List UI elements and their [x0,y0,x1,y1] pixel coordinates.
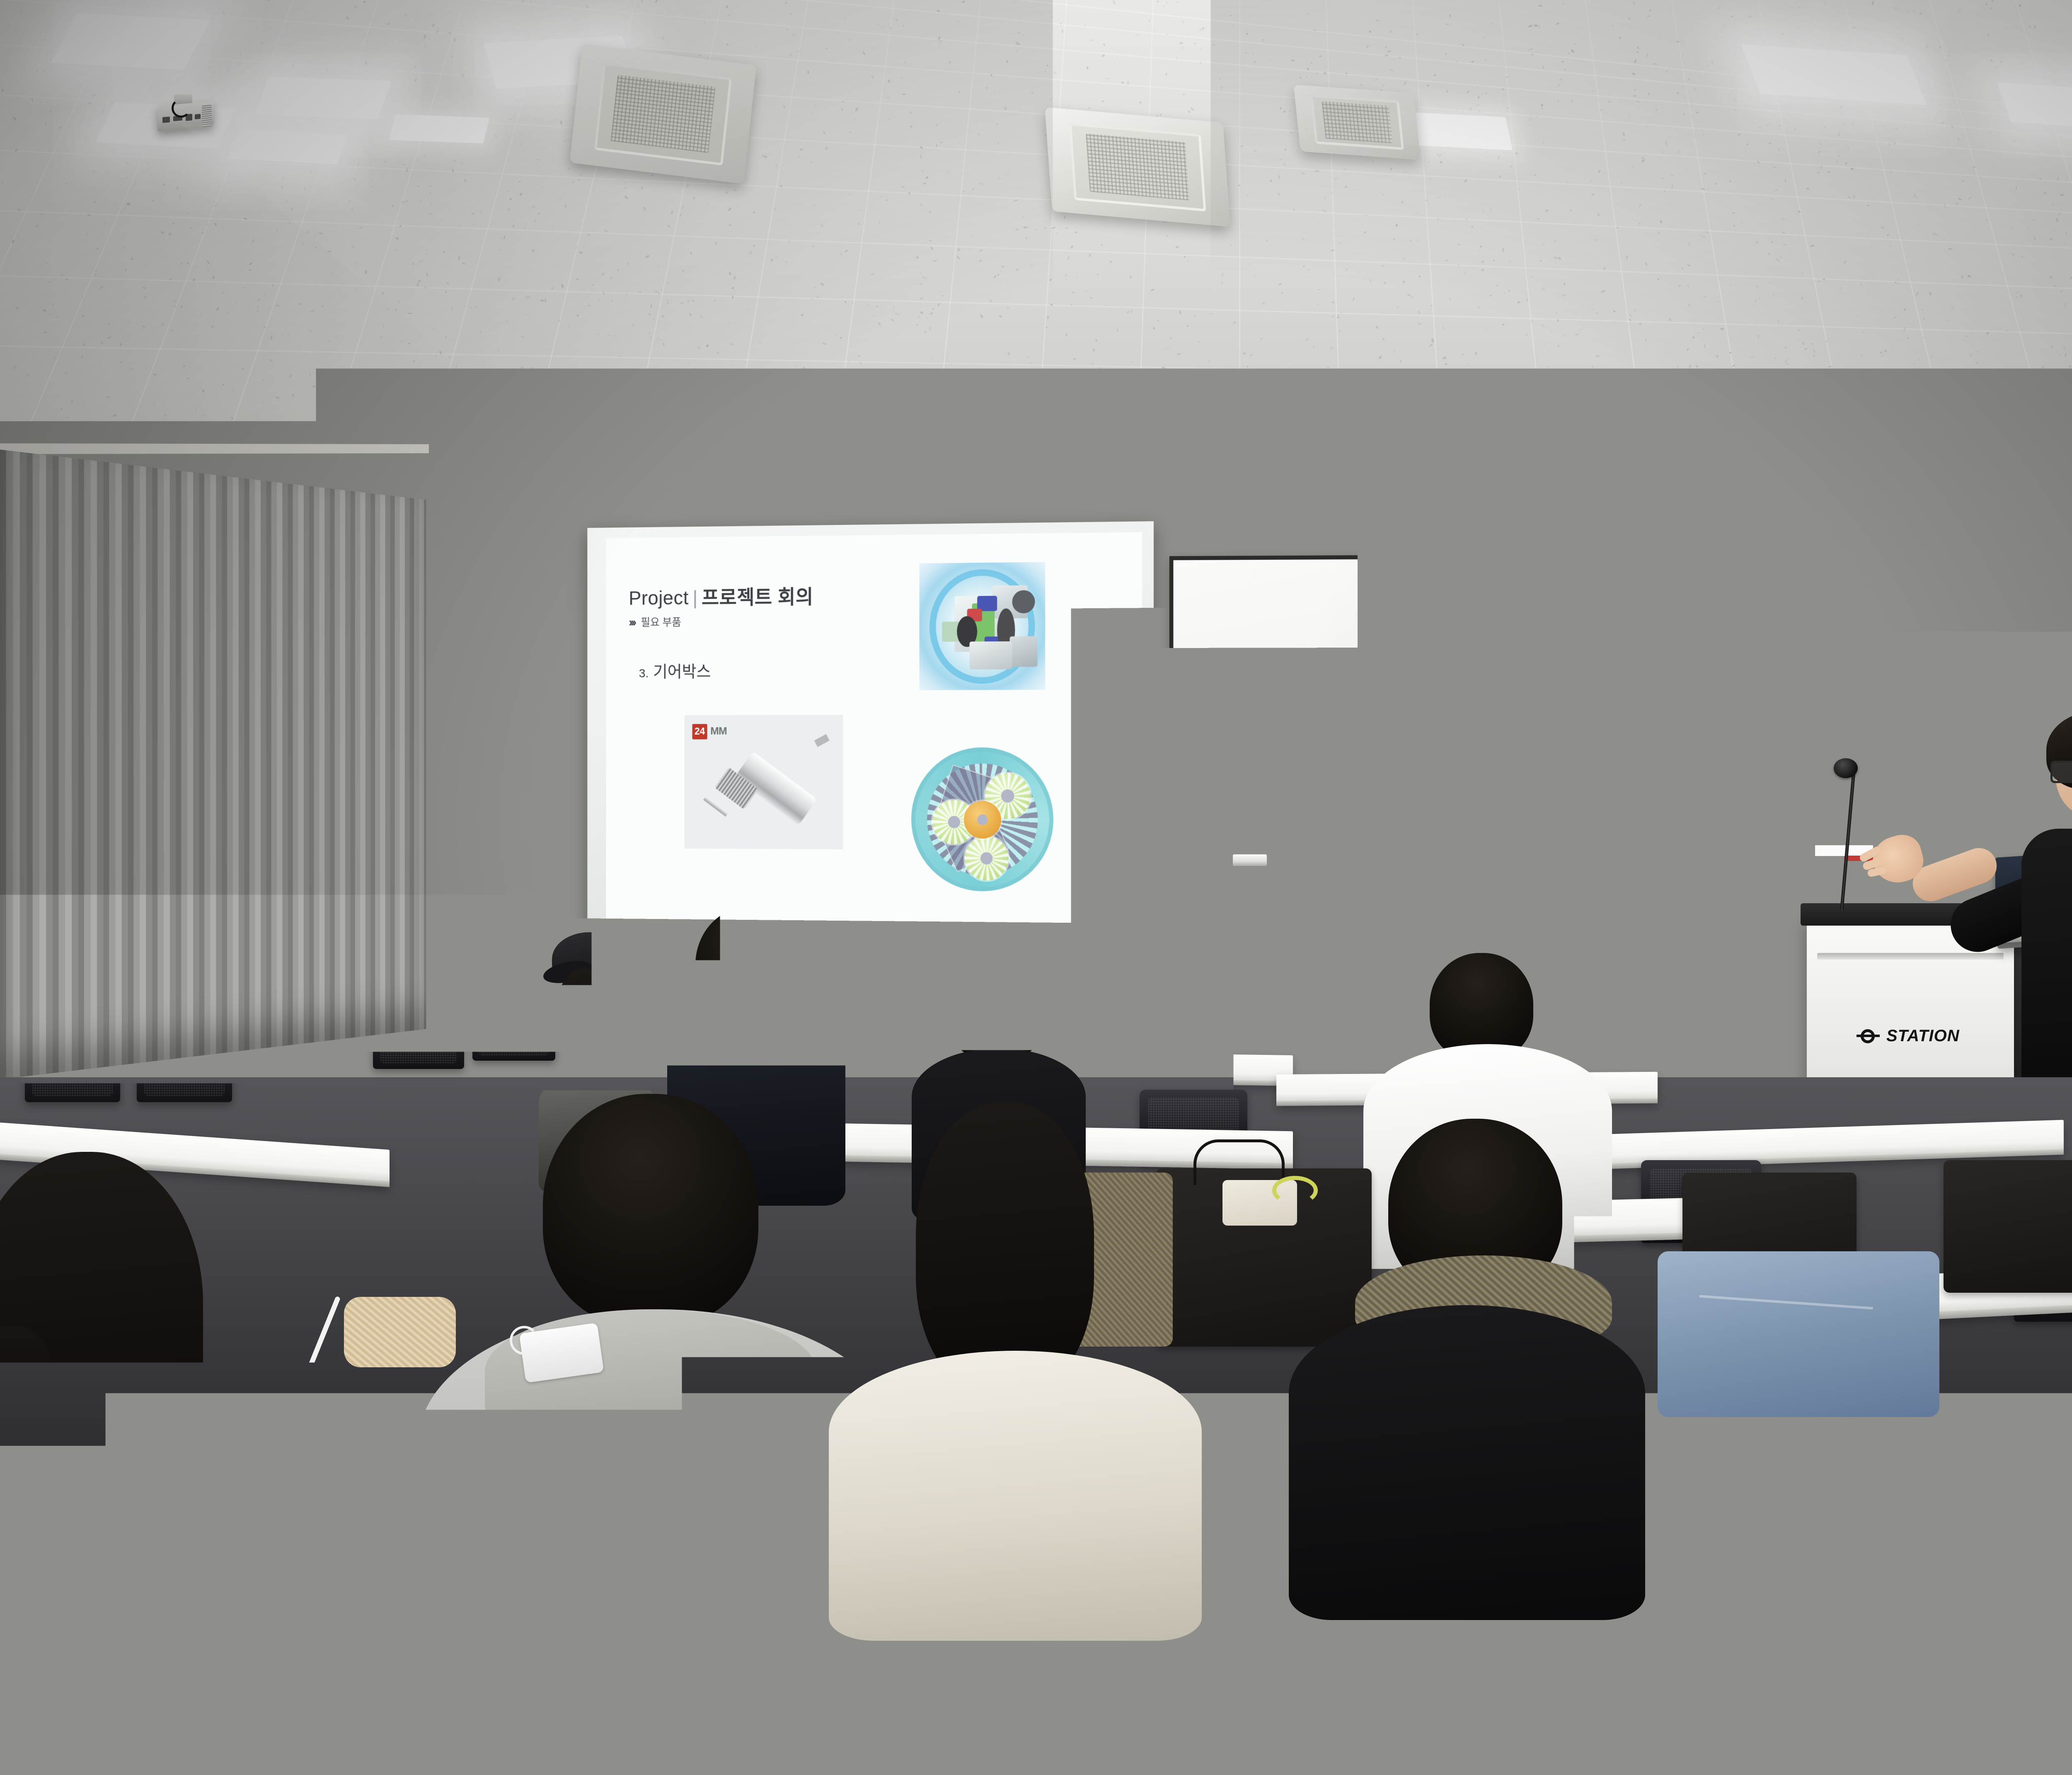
torso [1289,1305,1645,1620]
slide-image-planetary-gears [911,747,1053,892]
presentation-slide: Project|프로젝트 회의 ›››필요 부품 3. 기어박스 [606,532,1142,964]
head [695,907,803,1028]
wall-speaker [479,464,528,501]
motor-terminal-tab [814,734,830,747]
slide-image-gearmotor: 24 MM [685,715,843,849]
slide-list-item: 3. 기어박스 [639,658,711,682]
head [543,1094,758,1326]
projection-screen-case [562,506,1160,523]
cassette-air-conditioner [1294,85,1421,160]
whiteboard-marker-tray [1169,864,1808,878]
planet-gear [965,836,1009,881]
led-panel-light [255,77,392,119]
classroom-photo: Project|프로젝트 회의 ›››필요 부품 3. 기어박스 [0,0,2072,1775]
sun-gear [964,801,1001,839]
watermark-24-badge: 24 [692,724,707,739]
head [945,945,1048,1061]
projector-cable [172,99,191,118]
dawn-logo: DAWN [1081,895,1130,949]
projection-screen: Project|프로젝트 회의 ›››필요 부품 3. 기어박스 [587,521,1154,974]
slide-bullet-text: 필요 부품 [641,616,681,629]
curtain-rail [0,443,429,454]
hair [916,1102,1094,1392]
microphone-head-icon[interactable] [1834,758,1858,778]
watermark-text: MM [710,725,726,737]
glasses-icon [2050,761,2072,783]
slide-title: Project|프로젝트 회의 [629,580,813,610]
motor-output-shaft [703,797,728,816]
dawn-logo-text: DAWN [1086,915,1126,928]
led-panel-light [1740,44,1927,105]
projector-vent [202,105,212,127]
cassette-air-conditioner [1045,107,1230,227]
cassette-air-conditioner [570,44,756,184]
face-mask-ear-loop [510,1326,539,1355]
led-panel-light [389,114,489,143]
chair[interactable] [373,1011,464,1069]
chevron-right-icon: ››› [629,616,634,629]
ceiling [0,0,2072,534]
ceiling-projector [157,94,213,132]
backpack[interactable] [1944,1160,2072,1293]
fur-accessory [344,1297,456,1367]
chair[interactable] [25,1040,120,1102]
slide-item-text: 기어박스 [653,663,711,681]
water-bottle[interactable] [1130,1039,1150,1093]
estation-brand-text: STATION [1886,1027,1960,1045]
led-panel-light [51,13,211,70]
slide-item-number: 3. [639,667,649,680]
speaker-mount-stem [499,497,503,584]
slide-title-en: Project [629,588,689,609]
chair[interactable] [137,1040,232,1102]
whiteboard-eraser[interactable] [1233,854,1267,866]
denim-jacket [1658,1251,1939,1417]
student-hoodie-front-center [452,1094,858,1775]
slide-title-divider: | [689,587,702,609]
drink-cup[interactable] [290,1388,377,1467]
student-fur-collar [1305,1119,1620,1616]
led-panel-light [1997,82,2072,131]
whiteboard-sketch [1408,668,1469,750]
whiteboard [1169,553,1803,868]
slide-title-ko: 프로젝트 회의 [702,586,813,609]
water-bottle-cap [1131,1030,1149,1042]
handbag-handle [1193,1139,1285,1185]
led-panel-light [227,129,349,164]
slide-bullet: ›››필요 부품 [629,614,681,629]
e-mark-icon [1857,1028,1880,1044]
slide-image-gearbox-cutaway [920,562,1046,690]
